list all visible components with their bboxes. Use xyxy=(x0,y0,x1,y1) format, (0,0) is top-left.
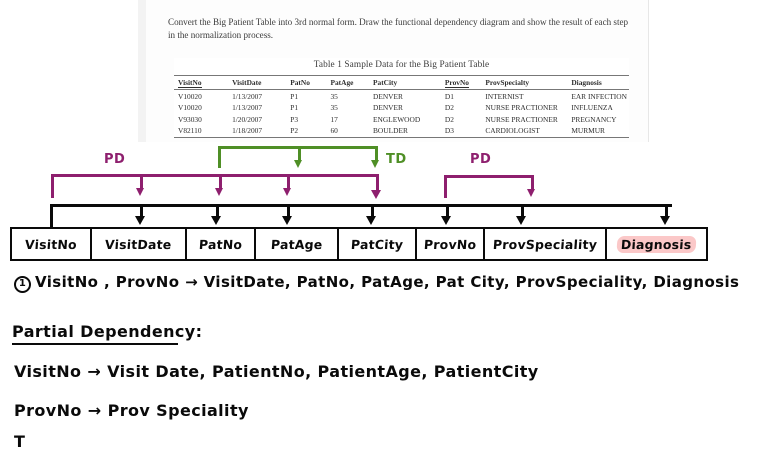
cell-diagnosis: EAR INFECTION xyxy=(571,90,629,102)
cell-patcity: DENVER xyxy=(373,90,445,102)
column-header-patage: PatAge xyxy=(330,76,373,90)
td-arrow-head-2 xyxy=(371,160,379,168)
cell-visitno: V10020 xyxy=(174,102,232,114)
attribute-box-visitno[interactable]: VisitNo xyxy=(12,229,92,259)
td-arrow-head-1 xyxy=(294,160,302,168)
column-header-diagnosis: Diagnosis xyxy=(571,76,629,90)
cell-provno: D2 xyxy=(445,102,485,114)
cell-patno: P1 xyxy=(290,102,330,114)
partial-dependency-heading: Partial Dependency: xyxy=(12,322,202,341)
table-row: V10020 1/13/2007 P1 35 DENVER D2 NURSE P… xyxy=(174,102,629,114)
cell-patage: 17 xyxy=(330,114,373,126)
table-header: VisitNo VisitDate PatNo PatAge PatCity P… xyxy=(174,76,629,90)
pd-left-arrow-head-2 xyxy=(215,188,223,196)
column-header-provspecialty: ProvSpecialty xyxy=(485,76,571,90)
cell-diagnosis: PREGNANCY xyxy=(571,114,629,126)
note-line-1-text: VisitNo , ProvNo → VisitDate, PatNo, Pat… xyxy=(35,273,739,291)
note-line-1: 1VisitNo , ProvNo → VisitDate, PatNo, Pa… xyxy=(14,274,739,293)
pk-arrow-head-5 xyxy=(441,216,451,225)
pd-left-arrow-head-3 xyxy=(283,188,291,196)
partial-dependency-heading-underline xyxy=(12,343,178,345)
cell-patcity: BOULDER xyxy=(373,125,445,137)
pk-arrow-head-7 xyxy=(660,216,670,225)
pd-left-arrow-head-4 xyxy=(371,190,381,199)
td-label: TD xyxy=(386,152,407,167)
td-bracket-origin-stem xyxy=(218,146,221,168)
pd-right-arrow-head-1 xyxy=(527,189,535,197)
cell-diagnosis: MURMUR xyxy=(571,125,629,137)
cell-provspecialty: INTERNIST xyxy=(485,90,571,102)
attribute-box-provspeciality[interactable]: ProvSpeciality xyxy=(485,229,607,259)
attribute-label: ProvSpeciality xyxy=(492,237,597,252)
attribute-label: PatAge xyxy=(270,237,323,252)
pk-arrow-head-6 xyxy=(516,216,526,225)
pk-bracket-origin-stem xyxy=(50,204,53,227)
pasted-document-screenshot: Convert the Big Patient Table into 3rd n… xyxy=(138,0,649,142)
cell-visitno: V93030 xyxy=(174,114,232,126)
column-header-patcity: PatCity xyxy=(373,76,445,90)
cell-patcity: DENVER xyxy=(373,102,445,114)
pd-right-bracket-origin-stem xyxy=(444,175,447,198)
cell-patno: P1 xyxy=(290,90,330,102)
column-header-patno: PatNo xyxy=(290,76,330,90)
table-header-row: VisitNo VisitDate PatNo PatAge PatCity P… xyxy=(174,76,629,90)
cell-patage: 35 xyxy=(330,90,373,102)
cell-visitdate: 1/20/2007 xyxy=(232,114,290,126)
column-header-provno: ProvNo xyxy=(445,76,485,90)
pd-right-label: PD xyxy=(470,152,491,167)
cell-provspecialty: NURSE PRACTIONER xyxy=(485,102,571,114)
pd-left-bracket-top-bar xyxy=(51,174,378,177)
cell-provspecialty: NURSE PRACTIONER xyxy=(485,114,571,126)
attribute-label: VisitDate xyxy=(105,237,173,252)
pd-left-label: PD xyxy=(104,152,125,167)
pk-arrow-head-4 xyxy=(366,216,376,225)
table-row: V93030 1/20/2007 P3 17 ENGLEWOOD D2 NURS… xyxy=(174,114,629,126)
attribute-label: PatNo xyxy=(198,237,242,252)
pk-arrow-head-1 xyxy=(135,216,145,225)
pd-left-bracket-origin-stem xyxy=(51,174,54,198)
attribute-label: ProvNo xyxy=(423,237,476,252)
cell-visitdate: 1/13/2007 xyxy=(232,90,290,102)
table-row: V82110 1/18/2007 P2 60 BOULDER D3 CARDIO… xyxy=(174,125,629,137)
cell-patage: 35 xyxy=(330,102,373,114)
pk-bracket-top-bar xyxy=(50,204,672,207)
attribute-box-provno[interactable]: ProvNo xyxy=(417,229,485,259)
sample-data-table-wrapper: Table 1 Sample Data for the Big Patient … xyxy=(174,58,629,138)
cell-patcity: ENGLEWOOD xyxy=(373,114,445,126)
attribute-label: PatCity xyxy=(350,237,403,252)
pd-left-arrow-head-1 xyxy=(136,188,144,196)
attribute-box-patcity[interactable]: PatCity xyxy=(339,229,417,259)
column-header-visitdate: VisitDate xyxy=(232,76,290,90)
table-row: V10020 1/13/2007 P1 35 DENVER D1 INTERNI… xyxy=(174,90,629,102)
attribute-boxes-row: VisitNo VisitDate PatNo PatAge PatCity P… xyxy=(10,227,708,261)
column-header-visitno: VisitNo xyxy=(174,76,232,90)
cell-provno: D1 xyxy=(445,90,485,102)
cell-provno: D3 xyxy=(445,125,485,137)
note-line-2: VisitNo → Visit Date, PatientNo, Patient… xyxy=(14,363,539,380)
cell-visitdate: 1/18/2007 xyxy=(232,125,290,137)
assignment-question: Convert the Big Patient Table into 3rd n… xyxy=(168,16,634,42)
pk-arrow-head-2 xyxy=(211,216,221,225)
pk-arrow-head-3 xyxy=(282,216,292,225)
cell-visitno: V10020 xyxy=(174,90,232,102)
cell-patno: P2 xyxy=(290,125,330,137)
note-step-marker: 1 xyxy=(14,276,31,293)
note-line-3: ProvNo → Prov Speciality xyxy=(14,402,249,419)
pd-right-bracket-top-bar xyxy=(444,175,533,178)
notes-page: Convert the Big Patient Table into 3rd n… xyxy=(0,0,784,441)
cell-provno: D2 xyxy=(445,114,485,126)
sample-data-table: VisitNo VisitDate PatNo PatAge PatCity P… xyxy=(174,75,629,138)
cell-diagnosis: INFLUENZA xyxy=(571,102,629,114)
table-caption: Table 1 Sample Data for the Big Patient … xyxy=(174,58,629,75)
attribute-label-highlighted: Diagnosis xyxy=(617,236,697,253)
cell-patno: P3 xyxy=(290,114,330,126)
attribute-box-diagnosis[interactable]: Diagnosis xyxy=(607,229,706,259)
table-body: V10020 1/13/2007 P1 35 DENVER D1 INTERNI… xyxy=(174,90,629,137)
cell-provspecialty: CARDIOLOGIST xyxy=(485,125,571,137)
cell-visitdate: 1/13/2007 xyxy=(232,102,290,114)
document-page: Convert the Big Patient Table into 3rd n… xyxy=(146,0,648,142)
attribute-box-patno[interactable]: PatNo xyxy=(187,229,256,259)
note-line-4-partial: T xyxy=(14,432,25,451)
attribute-box-visitdate[interactable]: VisitDate xyxy=(92,229,187,259)
attribute-label: VisitNo xyxy=(25,237,78,252)
cell-patage: 60 xyxy=(330,125,373,137)
attribute-box-patage[interactable]: PatAge xyxy=(256,229,339,259)
cell-visitno: V82110 xyxy=(174,125,232,137)
